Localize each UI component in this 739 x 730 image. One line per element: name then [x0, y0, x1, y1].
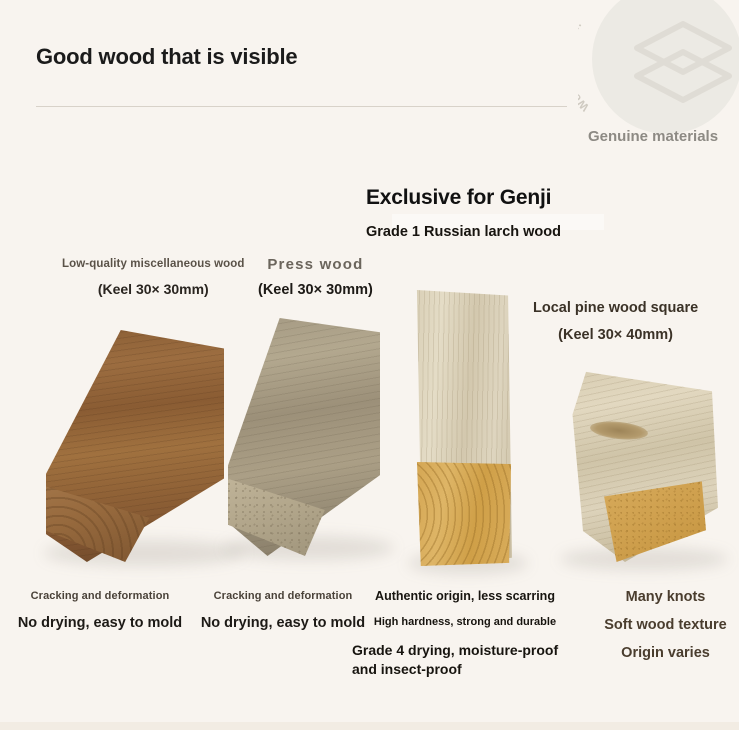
title-divider: [36, 106, 567, 107]
caption-line-3: Origin varies: [592, 645, 739, 661]
svg-text:Wood is for all.: Wood is for all.: [578, 19, 592, 113]
sample-label-line1: Press wood: [258, 256, 373, 273]
caption-line-1: Authentic origin, less scarring: [346, 589, 584, 603]
bottom-rule: [0, 722, 739, 730]
wood-end-grain-rings: [416, 462, 512, 566]
sample-label-press-wood: Press wood (Keel 30× 30mm): [258, 256, 373, 298]
page-title: Good wood that is visible: [36, 44, 297, 70]
sample-captions-local-pine: Many knots Soft wood texture Origin vari…: [592, 589, 739, 661]
caption-line-2: High hardness, strong and durable: [346, 616, 584, 628]
wood-sample-low-quality-miscellaneous: [46, 330, 224, 562]
wood-sample-russian-larch: [414, 290, 512, 566]
sample-label-russian-larch: Exclusive for Genji Grade 1 Russian larc…: [366, 186, 561, 240]
caption-line-1: Cracking and deformation: [10, 590, 190, 602]
sample-captions-low-quality: Cracking and deformation No drying, easy…: [10, 590, 190, 631]
sample-label-low-quality: Low-quality miscellaneous wood (Keel 30×…: [62, 258, 245, 297]
poster-canvas: Good wood that is visible Wood is for al…: [0, 0, 739, 730]
exclusive-heading: Exclusive for Genji: [366, 186, 561, 210]
sample-label-line1: Local pine wood square: [533, 300, 698, 316]
stacked-layers-icon: [629, 18, 737, 110]
badge-arc-label: Wood is for all.: [578, 19, 592, 113]
badge-caption: Genuine materials: [588, 128, 718, 145]
sample-label-line2: (Keel 30× 30mm): [62, 281, 245, 297]
sample-label-line2: (Keel 30× 40mm): [533, 327, 698, 343]
caption-line-3: Grade 4 drying, moisture-proof and insec…: [346, 641, 584, 679]
exclusive-subheading: Grade 1 Russian larch wood: [366, 224, 561, 240]
sample-label-local-pine: Local pine wood square (Keel 30× 40mm): [533, 300, 698, 343]
caption-line-2: Soft wood texture: [592, 617, 739, 633]
sample-label-line1: Low-quality miscellaneous wood: [62, 258, 245, 270]
caption-line-2: No drying, easy to mold: [10, 615, 190, 631]
caption-line-1: Many knots: [592, 589, 739, 605]
wood-sample-press-wood: [228, 318, 380, 556]
sample-captions-russian-larch: Authentic origin, less scarring High har…: [346, 589, 584, 679]
sample-label-line2: (Keel 30× 30mm): [258, 282, 373, 298]
wood-sample-local-pine: [568, 368, 718, 562]
